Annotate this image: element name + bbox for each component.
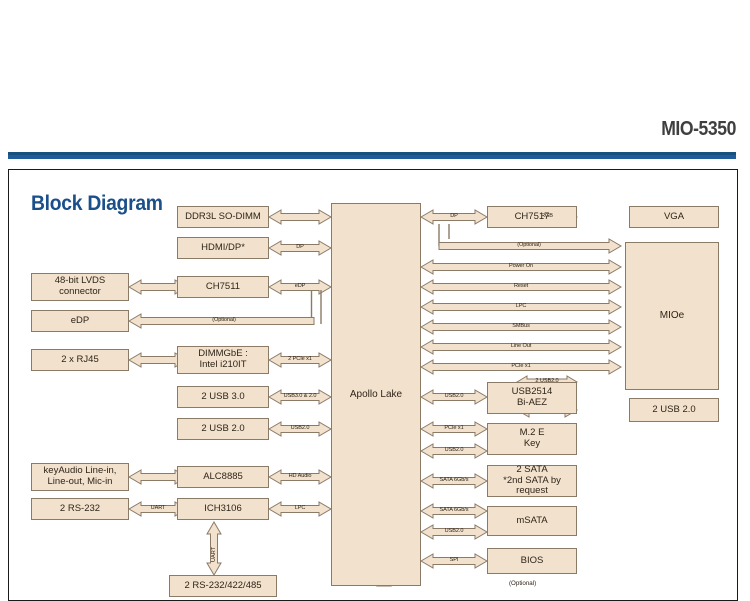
link-label-uart-rs232: UART — [141, 505, 175, 511]
link-label-spi-bios: SPI — [433, 557, 475, 563]
link-label-lpc-ich: LPC — [281, 505, 319, 511]
block-ich3106[interactable]: ICH3106 — [177, 498, 269, 520]
note-bottom-optional: (Optional) — [509, 580, 536, 587]
page-model-title: MIO-5350 — [661, 118, 736, 141]
link-label-hd-audio: HD Audio — [281, 473, 319, 479]
block-vga[interactable]: VGA — [629, 206, 719, 228]
link-label-usb2-left: USB2.0 — [281, 425, 319, 431]
block-usb2514[interactable]: USB2514 Bi-AEZ — [487, 382, 577, 414]
block-usb20-left[interactable]: 2 USB 2.0 — [177, 418, 269, 440]
m2e-line2: Key — [524, 439, 540, 450]
block-rj45[interactable]: 2 x RJ45 — [31, 349, 129, 371]
block-rs232[interactable]: 2 RS-232 — [31, 498, 129, 520]
block-diagram-frame: Block Diagram — [8, 169, 738, 601]
block-2-sata[interactable]: 2 SATA *2nd SATA by request — [487, 465, 577, 497]
block-bios[interactable]: BIOS — [487, 548, 577, 574]
link-label-usb2-hub-mioe: 2 USB2.0 — [527, 378, 567, 384]
link-label-pcie-x1-m2: PCIe x1 — [433, 425, 475, 431]
block-edp[interactable]: eDP — [31, 310, 129, 332]
block-apollo-lake[interactable]: Apollo Lake — [331, 203, 421, 586]
link-label-edp-ch7511: eDP — [281, 283, 319, 289]
usb2514-line2: Bi-AEZ — [517, 398, 547, 409]
dimmgbe-line2: Intel i210IT — [200, 360, 247, 371]
link-label-line-out: Line Out — [433, 343, 609, 349]
block-dimmgbe[interactable]: DIMMGbE : Intel i210IT — [177, 346, 269, 374]
link-label-sata-6gbs-a: SATA 6Gb/s — [433, 477, 475, 483]
block-alc8885[interactable]: ALC8885 — [177, 466, 269, 488]
link-label-usb3-usb2: USB3.0 & 2.0 — [279, 393, 321, 399]
link-label-usb2-hub-in: USB2.0 — [433, 393, 475, 399]
link-label-optional-left: (Optional) — [159, 317, 289, 323]
link-label-power-on: Power On — [433, 263, 609, 269]
link-label-uart-vertical: UART — [211, 536, 217, 562]
block-usb20-right[interactable]: 2 USB 2.0 — [629, 398, 719, 422]
block-mioe[interactable]: MIOe — [625, 242, 719, 390]
block-m2-e-key[interactable]: M.2 E Key — [487, 423, 577, 455]
link-label-dp-ch7517: DP — [433, 213, 475, 219]
header-rule — [8, 152, 736, 159]
block-lvds-connector[interactable]: 48-bit LVDS connector — [31, 273, 129, 301]
block-hdmi-dp[interactable]: HDMI/DP* — [177, 237, 269, 259]
link-label-lpc-mioe: LPC — [433, 303, 609, 309]
link-label-usb2-m2: USB2.0 — [433, 447, 475, 453]
audio-line2: Line-out, Mic-in — [48, 477, 113, 488]
link-label-rgb-vga: RGB — [529, 213, 565, 219]
lvds-line2: connector — [59, 287, 101, 298]
block-ddr3l-sodimm[interactable]: DDR3L SO-DIMM — [177, 206, 269, 228]
block-ch7511[interactable]: CH7511 — [177, 276, 269, 298]
sata-line2: *2nd SATA by request — [490, 476, 574, 498]
link-label-reset: Reset — [433, 283, 609, 289]
block-audio-jacks[interactable]: keyAudio Line-in, Line-out, Mic-in — [31, 463, 129, 491]
block-msata[interactable]: mSATA — [487, 506, 577, 536]
block-rs232-422-485[interactable]: 2 RS-232/422/485 — [169, 575, 277, 597]
block-usb30[interactable]: 2 USB 3.0 — [177, 386, 269, 408]
link-label-optional-mioe: (Optional) — [449, 242, 609, 248]
link-label-pcie-x1-mioe: PCIe x1 — [433, 363, 609, 369]
link-label-pcie-gbe: 2 PCIe x1 — [281, 356, 319, 362]
link-label-dp-hdmi: DP — [281, 244, 319, 250]
link-label-usb2-msata: USB2.0 — [433, 528, 475, 534]
link-label-sata-6gbs-b: SATA 6Gb/s — [433, 507, 475, 513]
sata-line1: 2 SATA — [516, 465, 547, 476]
link-label-smbus: SMBus — [433, 323, 609, 329]
